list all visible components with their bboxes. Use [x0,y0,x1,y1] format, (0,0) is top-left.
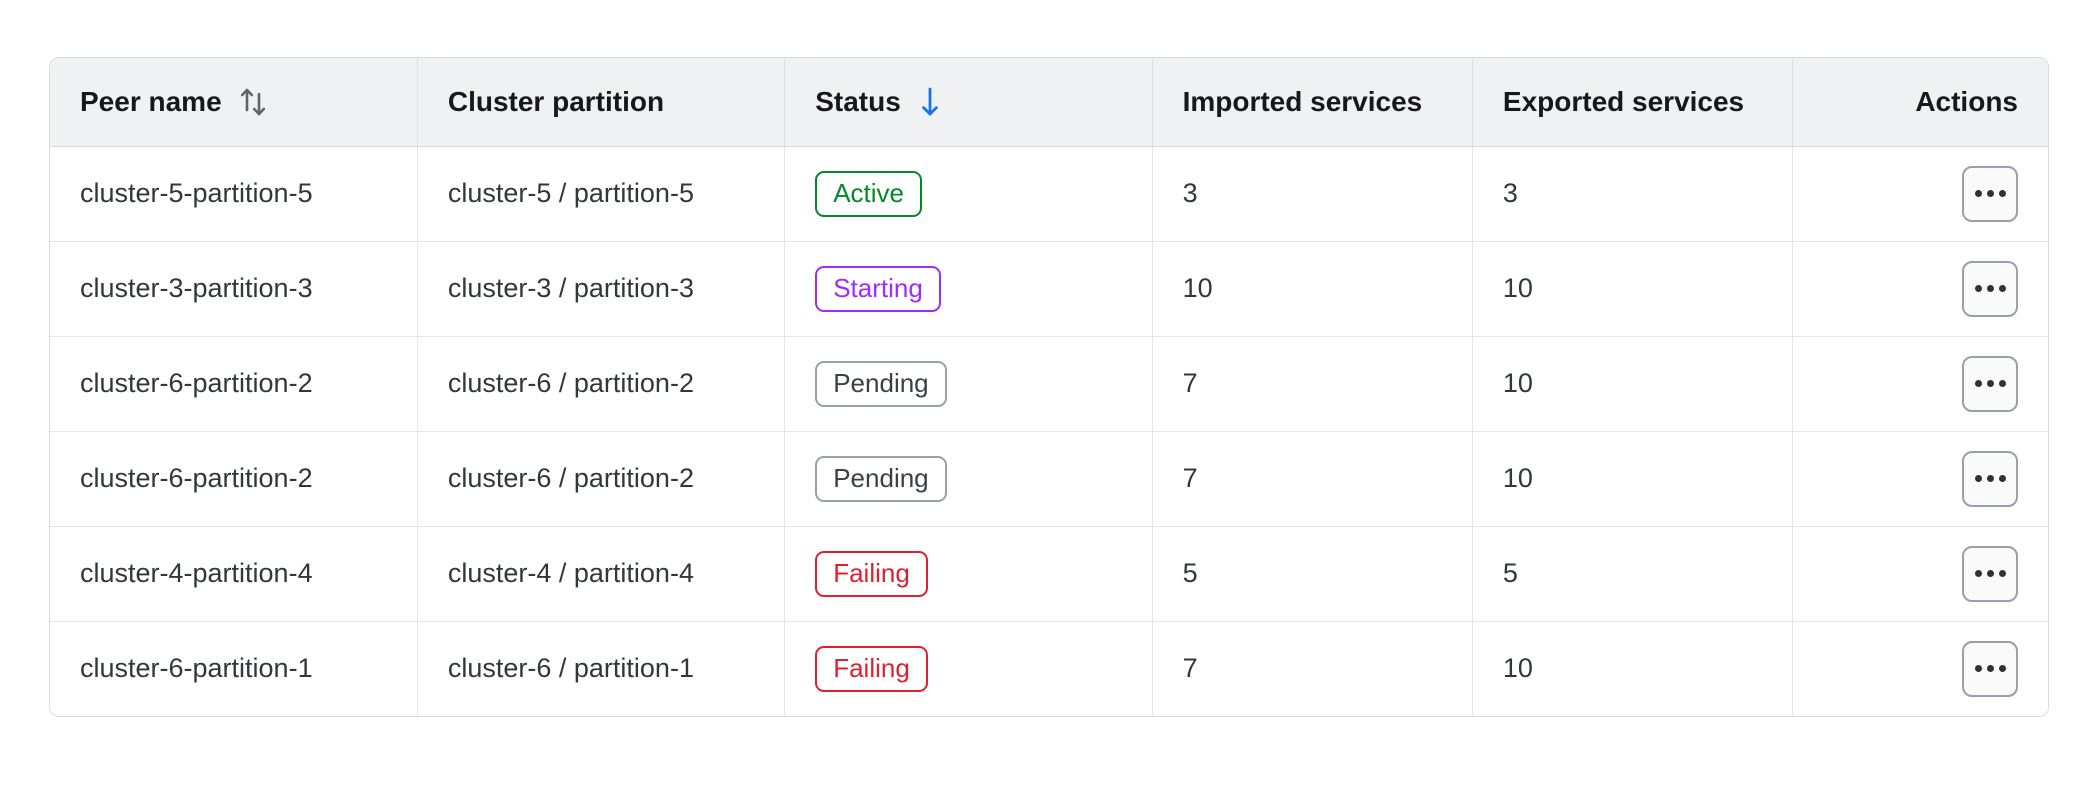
cell-peer-name: cluster-6-partition-2 [50,336,417,431]
row-actions-menu-button[interactable] [1962,356,2018,412]
ellipsis-icon [1999,475,2006,482]
peers-table: Peer name [50,58,2048,716]
ellipsis-icon [1987,380,1994,387]
cell-actions [1793,241,2048,336]
cell-cluster-partition: cluster-4 / partition-4 [417,526,784,621]
status-badge: Failing [815,646,928,692]
table-row: cluster-6-partition-2 cluster-6 / partit… [50,336,2048,431]
row-actions-menu-button[interactable] [1962,166,2018,222]
cell-exported-services: 3 [1472,146,1792,241]
cell-status: Pending [785,336,1152,431]
cell-cluster-partition: cluster-6 / partition-2 [417,336,784,431]
status-badge: Pending [815,456,946,502]
cell-actions [1793,336,2048,431]
cell-peer-name: cluster-6-partition-1 [50,621,417,716]
cell-actions [1793,526,2048,621]
cell-imported-services: 5 [1152,526,1472,621]
status-badge: Active [815,171,922,217]
peers-table-card: Peer name [49,57,2049,717]
cell-status: Failing [785,621,1152,716]
cell-status: Failing [785,526,1152,621]
cell-exported-services: 5 [1472,526,1792,621]
column-header-label: Actions [1915,86,2018,118]
column-header-label: Cluster partition [448,86,664,118]
ellipsis-icon [1999,665,2006,672]
column-header-peer-name[interactable]: Peer name [50,58,417,146]
cell-cluster-partition: cluster-6 / partition-2 [417,431,784,526]
cell-imported-services: 7 [1152,621,1472,716]
row-actions-menu-button[interactable] [1962,451,2018,507]
column-header-exported-services[interactable]: Exported services [1472,58,1792,146]
cell-cluster-partition: cluster-6 / partition-1 [417,621,784,716]
column-header-cluster-partition[interactable]: Cluster partition [417,58,784,146]
column-header-label: Exported services [1503,86,1744,118]
page-root: Peer name [0,0,2096,808]
cell-status: Starting [785,241,1152,336]
table-row: cluster-4-partition-4 cluster-4 / partit… [50,526,2048,621]
ellipsis-icon [1999,570,2006,577]
cell-imported-services: 3 [1152,146,1472,241]
cell-status: Active [785,146,1152,241]
cell-status: Pending [785,431,1152,526]
ellipsis-icon [1999,380,2006,387]
status-badge: Failing [815,551,928,597]
arrow-down-icon[interactable] [917,85,943,119]
ellipsis-icon [1975,190,1982,197]
cell-cluster-partition: cluster-3 / partition-3 [417,241,784,336]
status-badge: Starting [815,266,941,312]
cell-exported-services: 10 [1472,336,1792,431]
ellipsis-icon [1999,190,2006,197]
cell-exported-services: 10 [1472,431,1792,526]
cell-exported-services: 10 [1472,621,1792,716]
ellipsis-icon [1975,475,1982,482]
ellipsis-icon [1999,285,2006,292]
cell-cluster-partition: cluster-5 / partition-5 [417,146,784,241]
ellipsis-icon [1987,665,1994,672]
row-actions-menu-button[interactable] [1962,261,2018,317]
sort-both-arrows-icon[interactable] [238,85,268,119]
column-header-label: Peer name [80,86,222,118]
cell-peer-name: cluster-6-partition-2 [50,431,417,526]
cell-peer-name: cluster-4-partition-4 [50,526,417,621]
status-badge: Pending [815,361,946,407]
cell-actions [1793,621,2048,716]
ellipsis-icon [1987,475,1994,482]
table-row: cluster-6-partition-2 cluster-6 / partit… [50,431,2048,526]
cell-imported-services: 7 [1152,431,1472,526]
row-actions-menu-button[interactable] [1962,641,2018,697]
column-header-status[interactable]: Status [785,58,1152,146]
table-body: cluster-5-partition-5 cluster-5 / partit… [50,146,2048,716]
column-header-actions: Actions [1793,58,2048,146]
column-header-label: Status [815,86,901,118]
ellipsis-icon [1975,665,1982,672]
ellipsis-icon [1987,285,1994,292]
ellipsis-icon [1975,285,1982,292]
column-header-label: Imported services [1183,86,1423,118]
table-header-row: Peer name [50,58,2048,146]
ellipsis-icon [1987,570,1994,577]
ellipsis-icon [1987,190,1994,197]
cell-peer-name: cluster-3-partition-3 [50,241,417,336]
cell-actions [1793,431,2048,526]
row-actions-menu-button[interactable] [1962,546,2018,602]
cell-actions [1793,146,2048,241]
cell-imported-services: 7 [1152,336,1472,431]
table-header: Peer name [50,58,2048,146]
cell-exported-services: 10 [1472,241,1792,336]
table-row: cluster-5-partition-5 cluster-5 / partit… [50,146,2048,241]
ellipsis-icon [1975,380,1982,387]
cell-imported-services: 10 [1152,241,1472,336]
column-header-imported-services[interactable]: Imported services [1152,58,1472,146]
table-row: cluster-3-partition-3 cluster-3 / partit… [50,241,2048,336]
ellipsis-icon [1975,570,1982,577]
cell-peer-name: cluster-5-partition-5 [50,146,417,241]
table-row: cluster-6-partition-1 cluster-6 / partit… [50,621,2048,716]
